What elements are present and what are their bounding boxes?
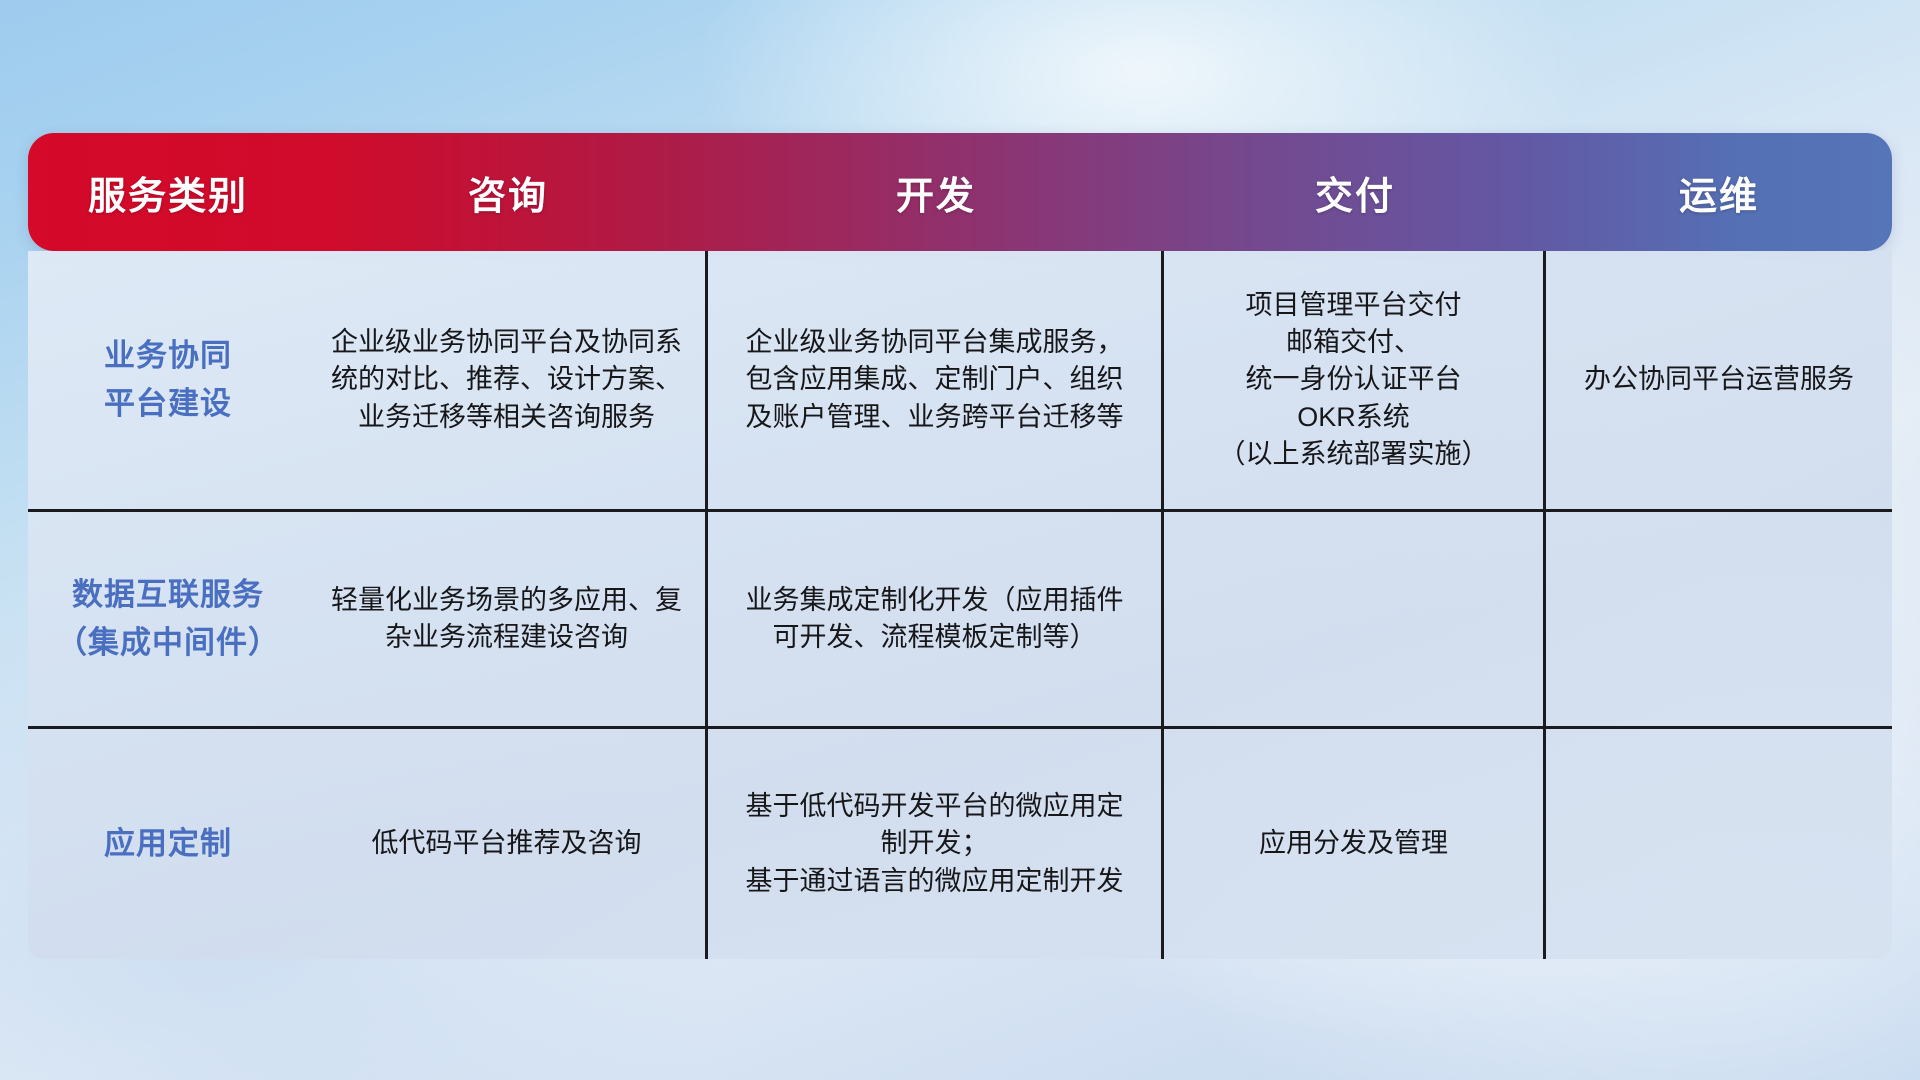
table-row: 数据互联服务 （集成中间件） 轻量化业务场景的多应用、复 杂业务流程建设咨询 业… — [28, 512, 1892, 729]
cell-delivery: 应用分发及管理 — [1164, 729, 1546, 959]
table-body: 业务协同 平台建设 企业级业务协同平台及协同系 统的对比、推荐、设计方案、 业务… — [28, 251, 1892, 959]
cell-development: 基于低代码开发平台的微应用定 制开发； 基于通过语言的微应用定制开发 — [708, 729, 1164, 959]
service-matrix-table: 服务类别 咨询 开发 交付 运维 业务协同 平台建设 企业级业务协同平台及协同系… — [28, 133, 1892, 959]
cell-development: 业务集成定制化开发（应用插件 可开发、流程模板定制等） — [708, 512, 1164, 726]
row-category-label: 业务协同 平台建设 — [28, 251, 308, 509]
cell-operations: 办公协同平台运营服务 — [1546, 251, 1892, 509]
header-development: 开发 — [708, 133, 1164, 251]
table-row: 应用定制 低代码平台推荐及咨询 基于低代码开发平台的微应用定 制开发； 基于通过… — [28, 729, 1892, 959]
cell-consulting: 轻量化业务场景的多应用、复 杂业务流程建设咨询 — [308, 512, 708, 726]
header-consulting: 咨询 — [308, 133, 708, 251]
cell-development: 企业级业务协同平台集成服务， 包含应用集成、定制门户、组织 及账户管理、业务跨平… — [708, 251, 1164, 509]
table-row: 业务协同 平台建设 企业级业务协同平台及协同系 统的对比、推荐、设计方案、 业务… — [28, 251, 1892, 512]
table-header-row: 服务类别 咨询 开发 交付 运维 — [28, 133, 1892, 251]
cell-delivery: 项目管理平台交付 邮箱交付、 统一身份认证平台 OKR系统 （以上系统部署实施） — [1164, 251, 1546, 509]
header-delivery: 交付 — [1164, 133, 1546, 251]
row-category-label: 应用定制 — [28, 729, 308, 959]
cell-delivery — [1164, 512, 1546, 726]
row-category-label: 数据互联服务 （集成中间件） — [28, 512, 308, 726]
slide-canvas: 服务类别 咨询 开发 交付 运维 业务协同 平台建设 企业级业务协同平台及协同系… — [0, 0, 1920, 1080]
header-service-category: 服务类别 — [28, 133, 308, 251]
cell-consulting: 低代码平台推荐及咨询 — [308, 729, 708, 959]
header-operations: 运维 — [1546, 133, 1892, 251]
cell-consulting: 企业级业务协同平台及协同系 统的对比、推荐、设计方案、 业务迁移等相关咨询服务 — [308, 251, 708, 509]
cell-operations — [1546, 512, 1892, 726]
cell-operations — [1546, 729, 1892, 959]
